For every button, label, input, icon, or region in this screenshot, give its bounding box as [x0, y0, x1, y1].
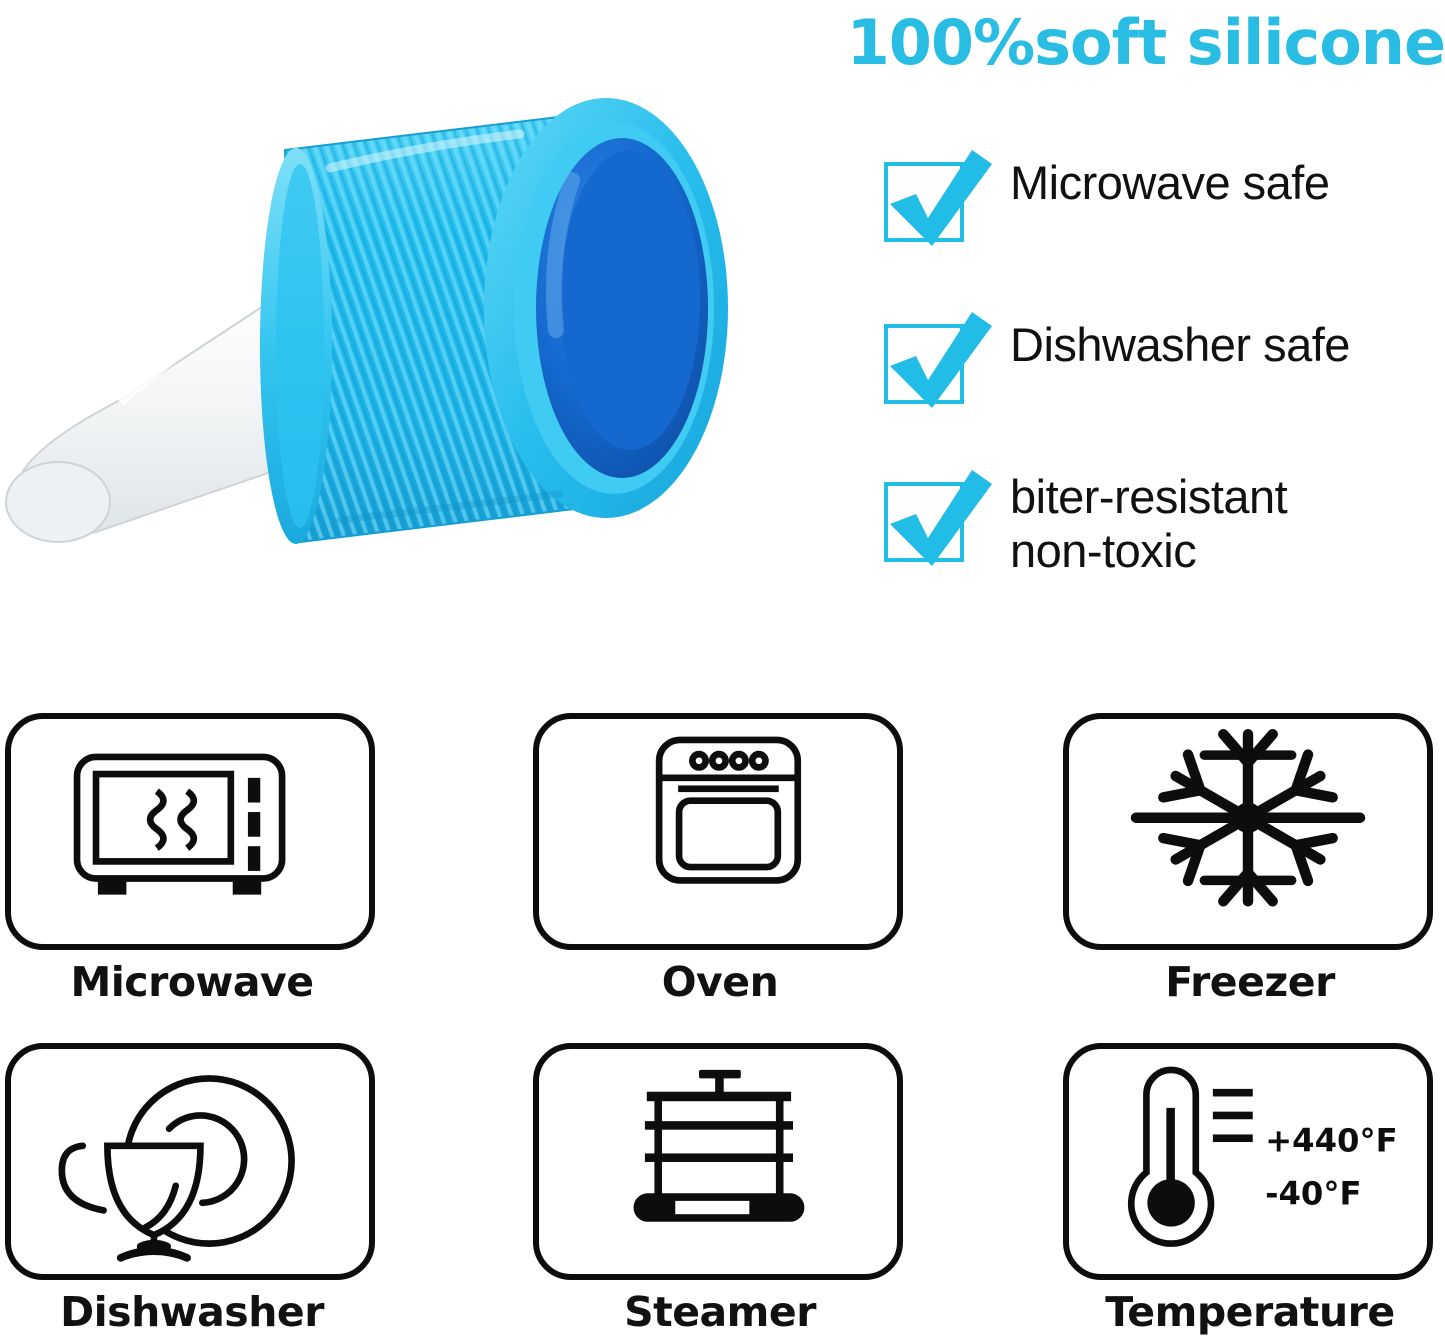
- snowflake-icon: [1063, 713, 1433, 950]
- feature-item: biter-resistant non-toxic: [880, 470, 1287, 578]
- feature-item: Dishwasher safe: [880, 312, 1350, 404]
- grid-cell-oven: Oven: [500, 700, 940, 1012]
- grid-cell-temperature: +440°F -40°F Temperature: [1030, 1030, 1445, 1342]
- checkbox-checked-icon: [880, 150, 972, 242]
- page-title: 100%soft silicone: [700, 0, 1445, 86]
- checkbox-checked-icon: [880, 312, 972, 404]
- temperature-min: -40°F: [1265, 1175, 1361, 1213]
- feature-label: Microwave safe: [1010, 150, 1330, 210]
- feature-label: Dishwasher safe: [1010, 312, 1350, 372]
- icon-label: Oven: [500, 958, 940, 1006]
- temperature-max: +440°F: [1265, 1122, 1398, 1160]
- icon-label: Temperature: [1030, 1288, 1445, 1336]
- oven-icon: [533, 713, 903, 950]
- microwave-icon: [5, 713, 375, 950]
- dishware-icon: [5, 1043, 375, 1280]
- product-infographic: 100%soft silicone: [0, 0, 1445, 1342]
- product-rim: [484, 98, 728, 518]
- feature-list: Microwave safe Dishwasher safe biter-res…: [880, 140, 1445, 600]
- capability-icon-grid: Microwave Oven: [0, 700, 1445, 1342]
- icon-label: Steamer: [500, 1288, 940, 1336]
- icon-label: Freezer: [1030, 958, 1445, 1006]
- steamer-icon: [533, 1043, 903, 1280]
- grid-cell-freezer: Freezer: [1030, 700, 1445, 1012]
- feature-item: Microwave safe: [880, 150, 1330, 242]
- icon-label: Dishwasher: [0, 1288, 412, 1336]
- product-stem: [6, 282, 300, 542]
- icon-label: Microwave: [0, 958, 412, 1006]
- grid-cell-dishwasher: Dishwasher: [0, 1030, 412, 1342]
- product-image: [0, 50, 760, 620]
- product-collar: [260, 148, 332, 544]
- thermometer-icon: +440°F -40°F: [1063, 1043, 1433, 1280]
- checkbox-checked-icon: [880, 470, 972, 562]
- feature-label: biter-resistant non-toxic: [1010, 470, 1287, 578]
- grid-cell-microwave: Microwave: [0, 700, 412, 1012]
- grid-cell-steamer: Steamer: [500, 1030, 940, 1342]
